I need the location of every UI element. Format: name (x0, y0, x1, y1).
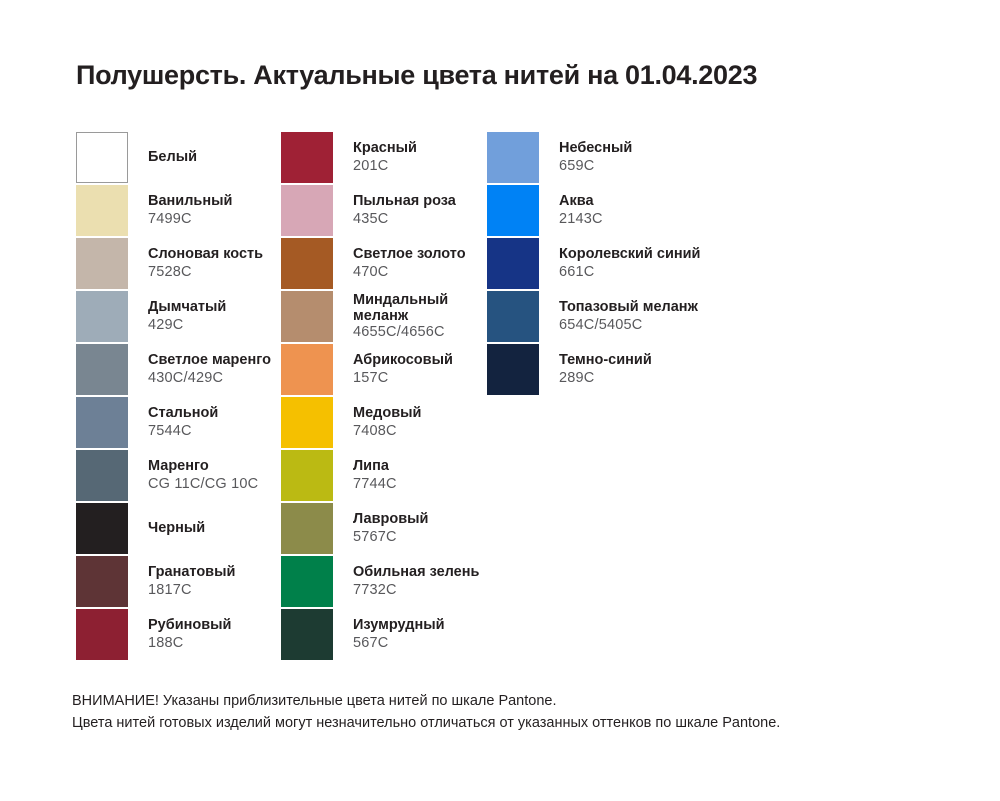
color-swatch (487, 185, 539, 236)
swatch-labels: Миндальныймеланж4655C/4656C (353, 292, 448, 342)
pantone-code: 188C (148, 635, 231, 652)
color-name: Слоновая кость (148, 246, 263, 263)
swatch-row: Лавровый5767C (281, 502, 479, 555)
swatch-labels: Топазовый меланж654C/5405C (559, 299, 698, 333)
color-name: Ванильный (148, 193, 232, 210)
color-name: Светлое маренго (148, 352, 271, 369)
color-name: Небесный (559, 140, 632, 157)
color-swatch (281, 291, 333, 342)
color-name: Абрикосовый (353, 352, 453, 369)
color-swatch (281, 132, 333, 183)
swatch-row: Светлое золото470C (281, 237, 479, 290)
pantone-code: 157C (353, 370, 453, 387)
pantone-code: 2143C (559, 211, 603, 228)
pantone-code: 7499C (148, 211, 232, 228)
color-swatch (487, 238, 539, 289)
pantone-code: 1817C (148, 582, 235, 599)
color-chart-page: Полушерсть. Актуальные цвета нитей на 01… (0, 0, 1000, 801)
pantone-code: 654C/5405C (559, 317, 698, 334)
color-name: Изумрудный (353, 617, 445, 634)
color-swatch (281, 450, 333, 501)
color-name: Липа (353, 458, 397, 475)
color-name: Лавровый (353, 511, 428, 528)
pantone-code: 661C (559, 264, 700, 281)
swatch-row: Изумрудный567C (281, 608, 479, 661)
swatch-row: Абрикосовый157C (281, 343, 479, 396)
color-swatch (76, 291, 128, 342)
color-name: Медовый (353, 405, 421, 422)
color-name: Королевский синий (559, 246, 700, 263)
swatch-labels: Медовый7408C (353, 405, 421, 439)
swatch-row: Дымчатый429C (76, 290, 271, 343)
pantone-code: 4655C/4656C (353, 324, 448, 341)
color-swatch (76, 609, 128, 660)
swatch-row: Стальной7544C (76, 396, 271, 449)
swatch-labels: Аква2143C (559, 193, 603, 227)
color-swatch (281, 397, 333, 448)
swatch-row: Королевский синий661C (487, 237, 700, 290)
swatch-row: Пыльная роза435C (281, 184, 479, 237)
swatch-column-3: Небесный659CАква2143CКоролевский синий66… (487, 131, 700, 396)
swatch-column-1: БелыйВанильный7499CСлоновая кость7528CДы… (76, 131, 271, 661)
swatch-labels: Небесный659C (559, 140, 632, 174)
swatch-labels: Королевский синий661C (559, 246, 700, 280)
color-swatch (76, 503, 128, 554)
pantone-code: 567C (353, 635, 445, 652)
swatch-row: Липа7744C (281, 449, 479, 502)
swatch-labels: Черный (148, 520, 205, 537)
swatch-labels: Темно-синий289C (559, 352, 652, 386)
swatch-row: Светлое маренго430C/429C (76, 343, 271, 396)
swatch-row: Гранатовый1817C (76, 555, 271, 608)
color-swatch (281, 609, 333, 660)
swatch-column-2: Красный201CПыльная роза435CСветлое золот… (281, 131, 479, 661)
disclaimer: ВНИМАНИЕ! Указаны приблизительные цвета … (72, 690, 780, 735)
color-name: Светлое золото (353, 246, 466, 263)
color-swatch (487, 344, 539, 395)
swatch-labels: Обильная зелень7732C (353, 564, 479, 598)
color-swatch (76, 556, 128, 607)
color-swatch (76, 132, 128, 183)
swatch-labels: Изумрудный567C (353, 617, 445, 651)
color-swatch (281, 344, 333, 395)
swatch-labels: Лавровый5767C (353, 511, 428, 545)
color-name: Дымчатый (148, 299, 226, 316)
color-swatch (487, 132, 539, 183)
pantone-code: 7544C (148, 423, 218, 440)
color-swatch (76, 450, 128, 501)
color-name: Черный (148, 520, 205, 537)
pantone-code: 7744C (353, 476, 397, 493)
color-name: Гранатовый (148, 564, 235, 581)
swatch-labels: Гранатовый1817C (148, 564, 235, 598)
swatch-labels: Слоновая кость7528C (148, 246, 263, 280)
color-name: Миндальныймеланж (353, 292, 448, 324)
color-swatch (76, 344, 128, 395)
swatch-row: Аква2143C (487, 184, 700, 237)
color-name: Обильная зелень (353, 564, 479, 581)
swatch-labels: МаренгоCG 11C/CG 10C (148, 458, 258, 492)
swatch-row: Белый (76, 131, 271, 184)
color-swatch (487, 291, 539, 342)
swatch-labels: Ванильный7499C (148, 193, 232, 227)
pantone-code: 201C (353, 158, 417, 175)
disclaimer-line-1: ВНИМАНИЕ! Указаны приблизительные цвета … (72, 690, 780, 712)
color-name: Темно-синий (559, 352, 652, 369)
color-swatch (281, 556, 333, 607)
color-swatch (76, 397, 128, 448)
color-name: Топазовый меланж (559, 299, 698, 316)
swatch-row: Миндальныймеланж4655C/4656C (281, 290, 479, 343)
pantone-code: 470C (353, 264, 466, 281)
color-name: Красный (353, 140, 417, 157)
pantone-code: 5767C (353, 529, 428, 546)
color-swatch (281, 238, 333, 289)
swatch-labels: Рубиновый188C (148, 617, 231, 651)
swatch-row: Медовый7408C (281, 396, 479, 449)
swatch-row: Обильная зелень7732C (281, 555, 479, 608)
swatch-labels: Дымчатый429C (148, 299, 226, 333)
swatch-labels: Белый (148, 149, 197, 166)
swatch-labels: Липа7744C (353, 458, 397, 492)
color-name: Маренго (148, 458, 258, 475)
pantone-code: 7408C (353, 423, 421, 440)
swatch-row: Красный201C (281, 131, 479, 184)
swatch-labels: Светлое маренго430C/429C (148, 352, 271, 386)
swatch-row: Топазовый меланж654C/5405C (487, 290, 700, 343)
color-swatch (76, 185, 128, 236)
color-name: Рубиновый (148, 617, 231, 634)
swatch-labels: Светлое золото470C (353, 246, 466, 280)
color-name: Стальной (148, 405, 218, 422)
color-swatch (281, 503, 333, 554)
swatch-labels: Абрикосовый157C (353, 352, 453, 386)
pantone-code: 289C (559, 370, 652, 387)
pantone-code: 7528C (148, 264, 263, 281)
swatch-row: МаренгоCG 11C/CG 10C (76, 449, 271, 502)
swatch-row: Темно-синий289C (487, 343, 700, 396)
color-swatch (281, 185, 333, 236)
color-name: Аква (559, 193, 603, 210)
swatch-row: Слоновая кость7528C (76, 237, 271, 290)
page-title: Полушерсть. Актуальные цвета нитей на 01… (76, 60, 757, 91)
color-name: Белый (148, 149, 197, 166)
pantone-code: 430C/429C (148, 370, 271, 387)
disclaimer-line-2: Цвета нитей готовых изделий могут незнач… (72, 712, 780, 734)
color-swatch (76, 238, 128, 289)
swatch-row: Небесный659C (487, 131, 700, 184)
swatch-labels: Стальной7544C (148, 405, 218, 439)
color-name: Пыльная роза (353, 193, 456, 210)
swatch-row: Ванильный7499C (76, 184, 271, 237)
pantone-code: 659C (559, 158, 632, 175)
swatch-labels: Пыльная роза435C (353, 193, 456, 227)
swatch-row: Черный (76, 502, 271, 555)
pantone-code: 7732C (353, 582, 479, 599)
pantone-code: CG 11C/CG 10C (148, 476, 258, 493)
pantone-code: 429C (148, 317, 226, 334)
swatch-row: Рубиновый188C (76, 608, 271, 661)
pantone-code: 435C (353, 211, 456, 228)
swatch-labels: Красный201C (353, 140, 417, 174)
